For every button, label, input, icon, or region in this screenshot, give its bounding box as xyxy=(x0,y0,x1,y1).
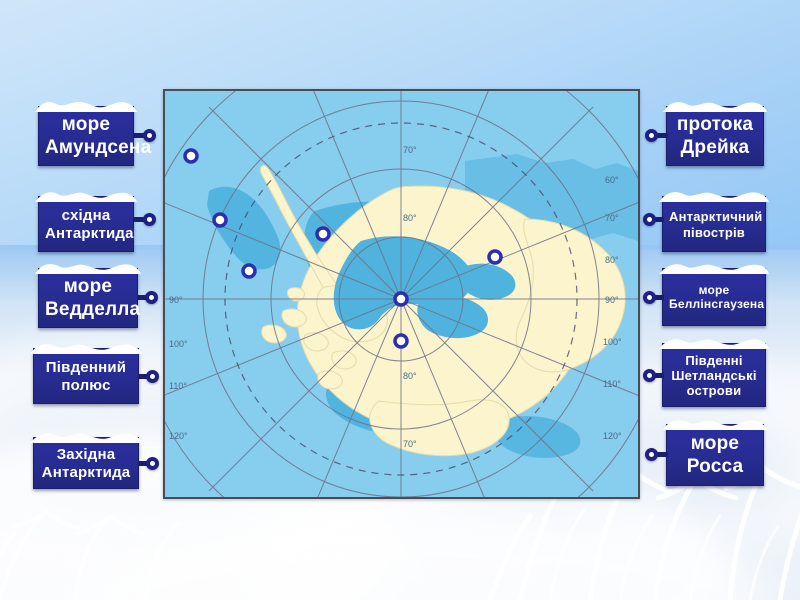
svg-text:90°: 90° xyxy=(605,295,619,305)
label-text: східнаАнтарктида xyxy=(45,207,127,242)
connector-knob[interactable] xyxy=(143,213,156,226)
map-marker[interactable] xyxy=(317,228,329,240)
connector-knob[interactable] xyxy=(645,129,658,142)
label-text: Антарктичнийпівострів xyxy=(669,209,759,239)
svg-text:80°: 80° xyxy=(403,371,417,381)
map-marker[interactable] xyxy=(214,214,226,226)
label-card-more-amundsena[interactable]: мореАмундсена xyxy=(38,106,134,166)
label-card-more-bellinshauzena[interactable]: мореБеллінсгаузена xyxy=(662,268,766,326)
svg-text:70°: 70° xyxy=(403,145,417,155)
antarctica-map[interactable]: 70° 80° 80° 70° 90° 100° 110° 120° 60° 7… xyxy=(163,89,640,499)
connector-knob[interactable] xyxy=(145,291,158,304)
label-text: мореАмундсена xyxy=(45,114,127,158)
svg-text:80°: 80° xyxy=(403,213,417,223)
svg-text:60°: 60° xyxy=(605,175,619,185)
connector-knob[interactable] xyxy=(645,448,658,461)
map-marker[interactable] xyxy=(185,150,197,162)
svg-text:90°: 90° xyxy=(169,295,183,305)
label-text: мореВедделла xyxy=(45,276,131,320)
map-marker[interactable] xyxy=(395,293,407,305)
label-card-shidna-antarktyda[interactable]: східнаАнтарктида xyxy=(38,196,134,252)
svg-text:100°: 100° xyxy=(603,337,622,347)
connector-knob[interactable] xyxy=(146,457,159,470)
connector-knob[interactable] xyxy=(643,369,656,382)
map-marker[interactable] xyxy=(243,265,255,277)
map-marker[interactable] xyxy=(395,335,407,347)
connector-knob[interactable] xyxy=(643,291,656,304)
svg-text:100°: 100° xyxy=(169,339,188,349)
label-card-zahidna-antarktyda[interactable]: ЗахіднаАнтарктида xyxy=(33,437,139,489)
label-card-pivdennyi-polus[interactable]: Південнийполюс xyxy=(33,348,139,404)
label-text: ЗахіднаАнтарктида xyxy=(40,446,132,481)
label-text: Південнийполюс xyxy=(40,359,132,394)
label-card-more-veddella[interactable]: мореВедделла xyxy=(38,268,138,328)
label-text: мореБеллінсгаузена xyxy=(669,284,759,312)
label-card-more-rossa[interactable]: мореРосса xyxy=(666,424,764,486)
map-marker[interactable] xyxy=(489,251,501,263)
label-card-pivdenni-shetlandski-ostrovy[interactable]: ПівденніШетландськіострови xyxy=(662,343,766,407)
svg-text:110°: 110° xyxy=(603,379,621,389)
svg-text:120°: 120° xyxy=(603,431,622,441)
label-text: протокаДрейка xyxy=(673,114,757,158)
svg-text:80°: 80° xyxy=(605,255,619,265)
label-card-antarktychnyi-pivostriv[interactable]: Антарктичнийпівострів xyxy=(662,196,766,252)
svg-text:70°: 70° xyxy=(403,439,417,449)
svg-text:70°: 70° xyxy=(605,213,619,223)
label-text: мореРосса xyxy=(673,433,757,477)
label-text: ПівденніШетландськіострови xyxy=(669,353,759,398)
map-graphic: 70° 80° 80° 70° 90° 100° 110° 120° 60° 7… xyxy=(165,91,638,497)
connector-knob[interactable] xyxy=(143,129,156,142)
svg-text:110°: 110° xyxy=(169,381,187,391)
label-card-protoka-dreika[interactable]: протокаДрейка xyxy=(666,106,764,166)
connector-knob[interactable] xyxy=(146,370,159,383)
screen: 70° 80° 80° 70° 90° 100° 110° 120° 60° 7… xyxy=(0,0,800,600)
svg-text:120°: 120° xyxy=(169,431,188,441)
connector-knob[interactable] xyxy=(643,213,656,226)
